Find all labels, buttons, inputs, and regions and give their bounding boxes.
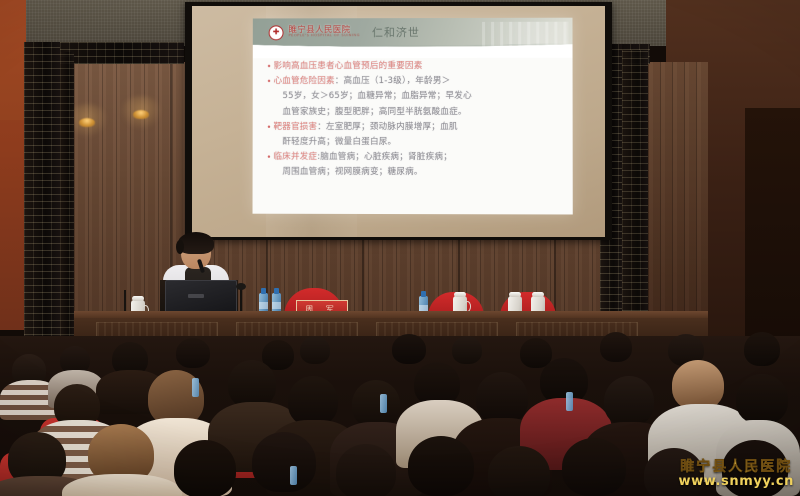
audience-head bbox=[300, 336, 330, 364]
slide-banner-wave-line bbox=[253, 44, 573, 59]
watermark-url: www.snmyy.cn bbox=[678, 475, 794, 490]
right-ornate-pillar-inner bbox=[622, 50, 648, 346]
audience-head bbox=[336, 444, 396, 496]
slide-motto: 仁和济世 bbox=[372, 24, 420, 40]
slide-hospital-logo: ✚ 睢宁县人民医院 PEOPLE'S HOSPITAL OF SUINING 仁… bbox=[269, 24, 420, 40]
audience-head bbox=[452, 336, 482, 364]
left-ornate-pillar bbox=[24, 42, 60, 342]
slide-bullet-continuation: 血管家族史；腹型肥胖；高同型半胱氨酸血症。 bbox=[265, 106, 561, 119]
slide-bullet-text: 影响高血压患者心血管预后的重要因素 bbox=[274, 60, 423, 73]
audience-head bbox=[562, 438, 626, 496]
audience-head bbox=[488, 446, 550, 496]
slide-hospital-name-en: PEOPLE'S HOSPITAL OF SUINING bbox=[289, 35, 361, 39]
speaker-hair bbox=[178, 232, 214, 254]
bullet-dot-icon: • bbox=[265, 151, 274, 164]
audience-head bbox=[744, 332, 780, 366]
left-red-wall-upper bbox=[0, 0, 26, 120]
audience-head bbox=[176, 338, 210, 368]
wall-sconce-icon bbox=[79, 118, 95, 127]
bullet-dot-icon: • bbox=[265, 60, 274, 73]
slide-bullet-item: • 影响高血压患者心血管预后的重要因素 bbox=[265, 60, 561, 74]
right-wood-panel bbox=[648, 62, 708, 342]
audience-head bbox=[408, 436, 474, 496]
hospital-cross-emblem-icon: ✚ bbox=[269, 25, 284, 40]
wall-sconce-icon bbox=[133, 110, 149, 119]
audience-head bbox=[736, 374, 788, 424]
slide-bullet-list: • 影响高血压患者心血管预后的重要因素 • 心血管危险因素：高血压（1-3级），… bbox=[253, 58, 573, 182]
audience-head bbox=[288, 376, 338, 426]
audience-head bbox=[392, 334, 426, 364]
slide-bullet-highlight: 心血管危险因素 bbox=[274, 76, 335, 86]
slide-bullet-item: • 靶器官损害：左室肥厚；颈动脉内膜增厚；血肌 bbox=[265, 121, 561, 134]
slide-bullet-item: • 心血管危险因素：高血压（1-3级），年龄男＞ bbox=[265, 75, 561, 88]
water-bottle bbox=[192, 378, 199, 397]
bullet-dot-icon: • bbox=[265, 121, 274, 134]
slide-bullet-line: 55岁，女＞65岁；血糖异常；血脂异常；早发心 bbox=[282, 90, 471, 103]
site-watermark: 睢宁县人民医院 www.snmyy.cn bbox=[678, 460, 794, 490]
slide-bullet-text: 靶器官损害：左室肥厚；颈动脉内膜增厚；血肌 bbox=[273, 121, 457, 134]
right-wall-recess bbox=[745, 108, 800, 340]
audience-head bbox=[252, 432, 316, 492]
slide-bullet-highlight: 靶器官损害 bbox=[273, 122, 317, 132]
slide-bullet-rest: ：左室肥厚；颈动脉内膜增厚；血肌 bbox=[317, 122, 458, 132]
left-ornate-pillar-inner bbox=[60, 52, 74, 342]
audience-head bbox=[174, 440, 236, 496]
audience-head bbox=[672, 360, 724, 410]
slide-bullet-line: 酐轻度升高；微量白蛋白尿。 bbox=[282, 136, 396, 149]
slide-bullet-line: 周围血管病；视网膜病变；糖尿病。 bbox=[282, 166, 422, 179]
slide-bullet-line: 血管家族史；腹型肥胖；高同型半胱氨酸血症。 bbox=[282, 106, 466, 119]
slide-bullet-rest: :脑血管病；心脏疾病；肾脏疾病； bbox=[317, 152, 452, 162]
bullet-dot-icon: • bbox=[265, 75, 274, 88]
audience-head bbox=[600, 332, 632, 362]
audience-head bbox=[228, 360, 276, 408]
slide-bullet-rest: ：高血压（1-3级），年龄男＞ bbox=[335, 76, 451, 86]
slide-bullet-highlight: 临床并发症 bbox=[273, 152, 317, 162]
slide-bullet-continuation: 周围血管病；视网膜病变；糖尿病。 bbox=[264, 166, 560, 180]
audience-head bbox=[604, 376, 654, 426]
slide-bullet-continuation: 55岁，女＞65岁；血糖异常；血脂异常；早发心 bbox=[265, 90, 561, 103]
laptop-logo-icon bbox=[188, 294, 204, 298]
slide-bullet-item: • 临床并发症:脑血管病；心脏疾病；肾脏疾病； bbox=[265, 151, 561, 165]
water-bottle bbox=[290, 466, 297, 485]
slide-bullet-text: 心血管危险因素：高血压（1-3级），年龄男＞ bbox=[274, 75, 451, 88]
slide-bullet-continuation: 酐轻度升高；微量白蛋白尿。 bbox=[265, 136, 561, 149]
audience-head bbox=[352, 380, 400, 428]
projected-slide: ✚ 睢宁县人民医院 PEOPLE'S HOSPITAL OF SUINING 仁… bbox=[253, 18, 573, 215]
conference-hall-photo: ✚ 睢宁县人民医院 PEOPLE'S HOSPITAL OF SUINING 仁… bbox=[0, 0, 800, 496]
watermark-hospital-name: 睢宁县人民医院 bbox=[678, 460, 794, 476]
water-bottle bbox=[566, 392, 573, 411]
slide-bullet-highlight: 影响高血压患者心血管预后的重要因素 bbox=[274, 61, 423, 71]
water-bottle bbox=[380, 394, 387, 413]
audience-head bbox=[476, 372, 528, 424]
slide-bullet-text: 临床并发症:脑血管病；心脏疾病；肾脏疾病； bbox=[273, 151, 452, 164]
desk-microphone-icon bbox=[236, 283, 246, 290]
